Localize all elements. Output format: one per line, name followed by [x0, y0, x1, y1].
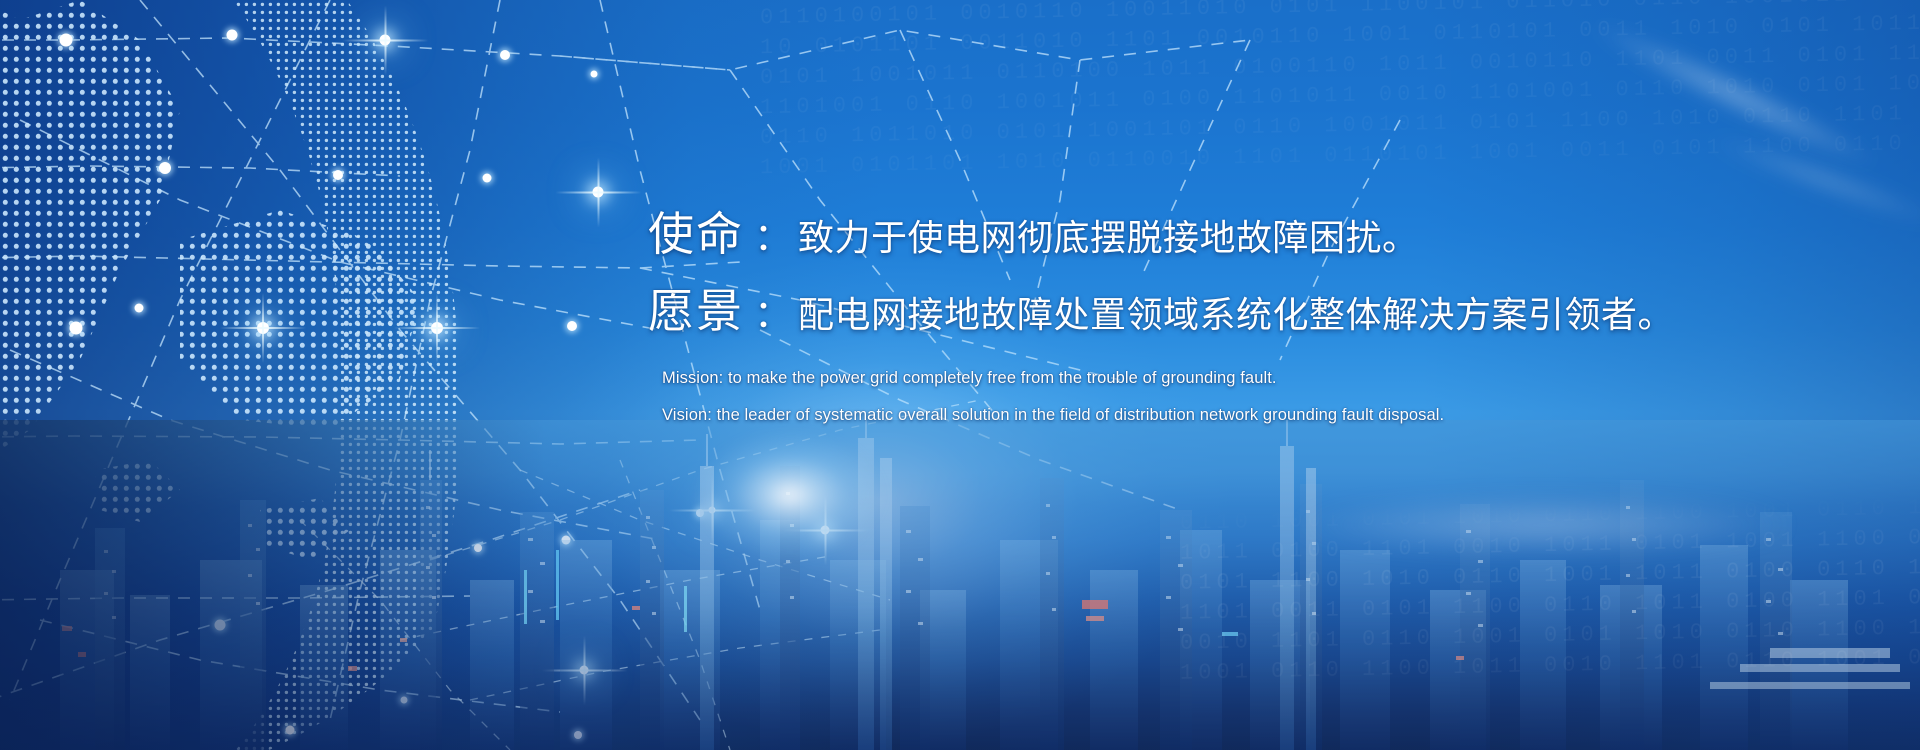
banner-text-block: 使命 ： 致力于使电网彻底摆脱接地故障困扰。 愿景 ： 配电网接地故障处置领域系… — [648, 206, 1888, 425]
mission-statement: 致力于使电网彻底摆脱接地故障困扰。 — [798, 209, 1419, 261]
vision-keyword: 愿景 — [648, 286, 744, 338]
mission-subtitle-english: Mission: to make the power grid complete… — [662, 368, 1888, 389]
mission-keyword: 使命 — [648, 209, 744, 261]
mission-vision-banner: 0110100101 0010110 10011010 0101 1100101… — [0, 0, 1920, 750]
vision-colon: ： — [744, 283, 798, 338]
vision-subtitle-english: Vision: the leader of systematic overall… — [662, 405, 1888, 426]
mission-headline: 使命 ： 致力于使电网彻底摆脱接地故障困扰。 — [648, 206, 1888, 261]
mission-colon: ： — [744, 206, 798, 261]
vision-headline: 愿景 ： 配电网接地故障处置领域系统化整体解决方案引领者。 — [648, 283, 1888, 338]
vision-statement: 配电网接地故障处置领域系统化整体解决方案引领者。 — [798, 286, 1674, 338]
binary-digits-texture-bottom: 0110 1001 0101 1010 0110 1100 1001 0110 … — [1180, 491, 1920, 750]
